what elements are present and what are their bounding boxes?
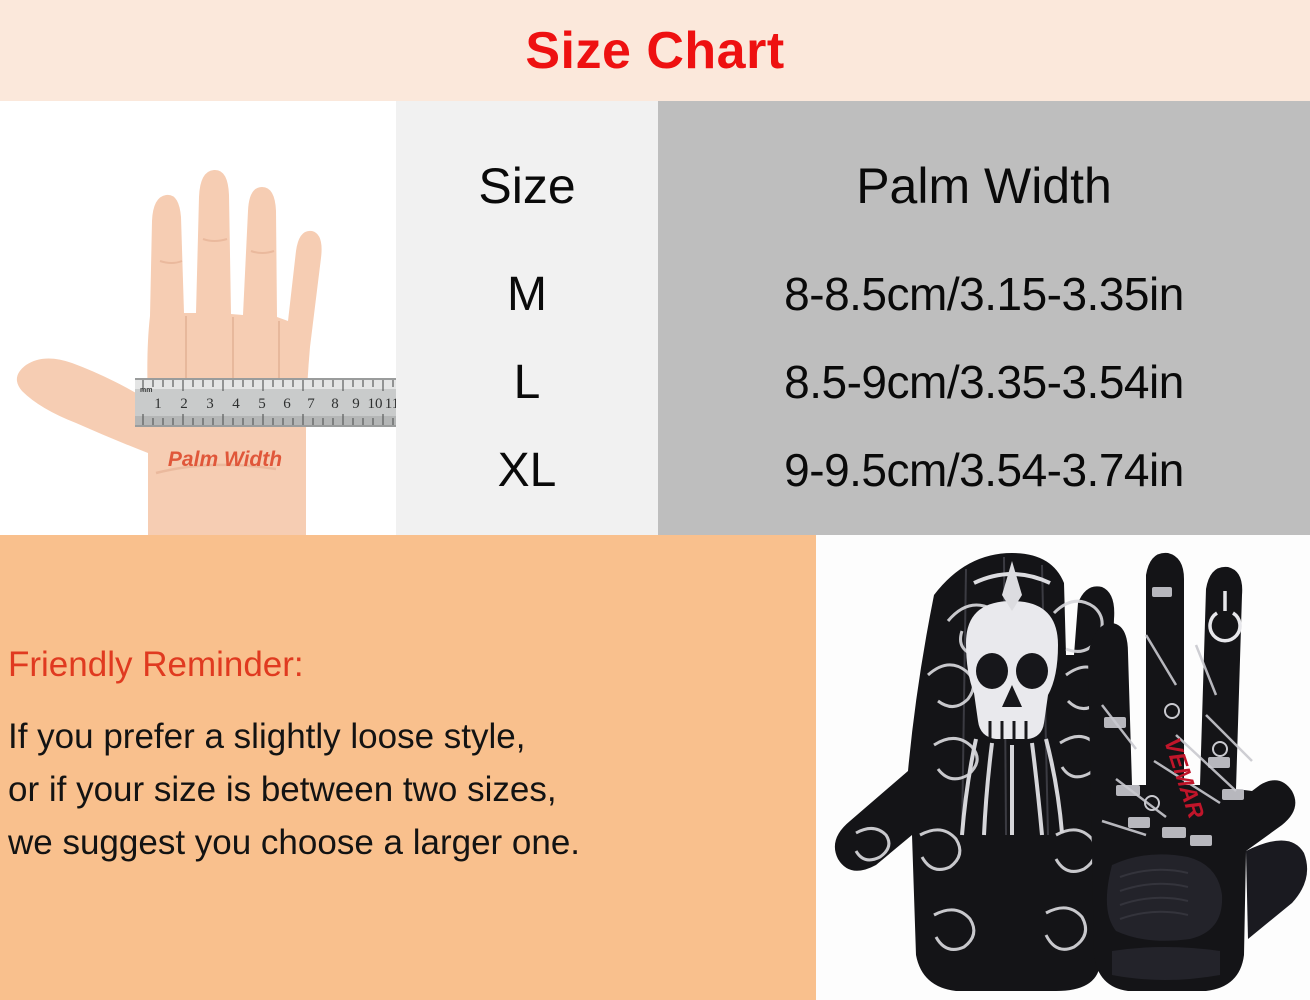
column-header-palm-width: Palm Width: [658, 131, 1310, 241]
chart-body: mm 1 2 3 4 5 6 7 8 9 10 11 P: [0, 101, 1310, 535]
table-row-palm-xl: 9-9.5cm/3.54-3.74in: [658, 427, 1310, 513]
svg-text:4: 4: [232, 396, 240, 412]
reminder-line-1: If you prefer a slightly loose style,: [8, 710, 798, 763]
page-title: Size Chart: [0, 22, 1310, 80]
svg-text:9: 9: [352, 396, 360, 412]
column-header-size: Size: [396, 131, 658, 241]
product-photo: VEMAR: [816, 535, 1310, 1000]
table-row-size-m: M: [396, 251, 658, 337]
ruler-icon: mm 1 2 3 4 5 6 7 8 9 10 11: [135, 378, 396, 427]
reminder-title: Friendly Reminder:: [8, 638, 798, 692]
svg-text:10: 10: [368, 396, 383, 412]
svg-text:1: 1: [154, 396, 162, 412]
reminder-line-3: we suggest you choose a larger one.: [8, 816, 798, 869]
table-row-size-xl: XL: [396, 427, 658, 513]
size-table: Size Palm Width M 8-8.5cm/3.15-3.35in L …: [396, 101, 1310, 535]
size-chart-page: Size Chart: [0, 0, 1310, 1000]
friendly-reminder-block: Friendly Reminder: If you prefer a sligh…: [8, 638, 798, 869]
table-row-size-l: L: [396, 339, 658, 425]
hand-measurement-photo: mm 1 2 3 4 5 6 7 8 9 10 11 P: [0, 101, 396, 535]
svg-text:7: 7: [307, 396, 315, 412]
svg-text:6: 6: [283, 396, 291, 412]
svg-text:2: 2: [180, 396, 188, 412]
svg-text:3: 3: [206, 396, 214, 412]
hand-illustration: mm 1 2 3 4 5 6 7 8 9 10 11 P: [0, 101, 396, 535]
reminder-band: Friendly Reminder: If you prefer a sligh…: [0, 535, 1310, 1000]
table-row-palm-l: 8.5-9cm/3.35-3.54in: [658, 339, 1310, 425]
palm-width-caption: Palm Width: [168, 448, 282, 471]
svg-text:5: 5: [258, 396, 266, 412]
svg-text:8: 8: [331, 396, 339, 412]
svg-text:11: 11: [385, 396, 396, 412]
gloves-illustration: VEMAR: [816, 535, 1310, 1000]
reminder-line-2: or if your size is between two sizes,: [8, 763, 798, 816]
ruler-unit-label: mm: [140, 387, 152, 394]
header-band: Size Chart: [0, 0, 1310, 101]
table-row-palm-m: 8-8.5cm/3.15-3.35in: [658, 251, 1310, 337]
